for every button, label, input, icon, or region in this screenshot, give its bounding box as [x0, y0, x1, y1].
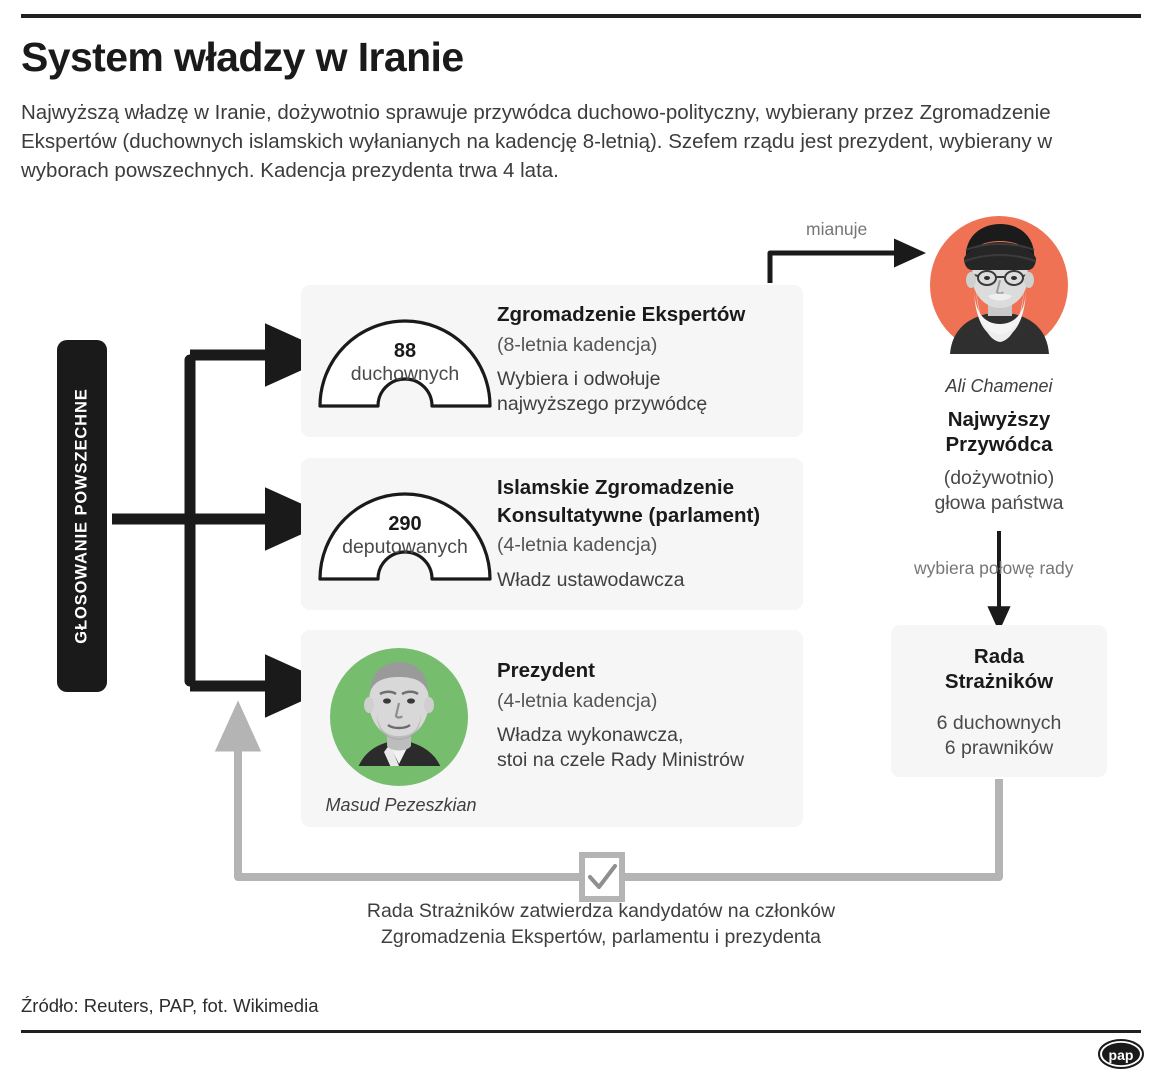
- leader-subtitle-line-2: głowa państwa: [880, 491, 1118, 516]
- approval-footnote-line-1: Rada Strażników zatwierdza kandydatów na…: [241, 899, 961, 925]
- parliament-member-unit: deputowanych: [307, 536, 503, 559]
- president-term: (4-letnia kadencja): [497, 689, 791, 714]
- assembly-member-count: 88: [317, 340, 493, 363]
- guardians-title-block: Rada Strażników: [891, 644, 1107, 695]
- guardians-body-block: 6 duchownych 6 prawników: [891, 711, 1107, 762]
- president-text-block: Prezydent (4-letnia kadencja) Władza wyk…: [497, 658, 791, 774]
- leader-subtitle-line-1: (dożywotnio): [880, 466, 1118, 491]
- vote-branch-arrows: [112, 355, 278, 686]
- assembly-duty-line-1: Wybiera i odwołuje: [497, 367, 791, 392]
- leader-portrait: [930, 216, 1068, 354]
- leader-subtitle-block: (dożywotnio) głowa państwa: [880, 466, 1118, 517]
- card-guardian-council[interactable]: Rada Strażników 6 duchownych 6 prawników: [891, 625, 1107, 777]
- guardians-body-line-1: 6 duchownych: [891, 711, 1107, 736]
- parliament-title-line-1: Islamskie Zgromadzenie: [497, 475, 791, 501]
- assembly-term: (8-letnia kadencja): [497, 333, 791, 358]
- leader-title-line-2: Przywódca: [880, 432, 1118, 457]
- checkbox-icon: [582, 855, 622, 899]
- edge-label-half-council: wybiera połowę rady: [914, 558, 1074, 579]
- leader-title-block: Najwyższy Przywódca: [880, 407, 1118, 457]
- president-duty-line-1: Władza wykonawcza,: [497, 723, 791, 748]
- infographic-root: System władzy w Iranie Najwyższą władzę …: [0, 0, 1162, 1080]
- leader-portrait-illustration: [930, 216, 1068, 354]
- universal-vote-label: GŁOSOWANIE POWSZECHNE: [73, 388, 92, 643]
- edge-label-appoints: mianuje: [806, 219, 867, 240]
- leader-title-line-1: Najwyższy: [880, 407, 1118, 432]
- guardians-title-line-2: Strażników: [891, 669, 1107, 694]
- standfirst-text: Najwyższą władzę w Iranie, dożywotnio sp…: [21, 98, 1091, 185]
- parliament-title-line-2: Konsultatywne (parlament): [497, 503, 791, 529]
- approval-footnote-line-2: Zgromadzenia Ekspertów, parlamentu i pre…: [241, 925, 961, 951]
- pap-logo-text: pap: [1109, 1047, 1134, 1063]
- approval-footnote: Rada Strażników zatwierdza kandydatów na…: [241, 899, 961, 950]
- hemicycle-icon: 88 duchownych: [317, 313, 493, 409]
- parliament-duty-line-1: Władz ustawodawcza: [497, 568, 791, 593]
- parliament-text-block: Islamskie Zgromadzenie Konsultatywne (pa…: [497, 475, 791, 593]
- universal-vote-pill: GŁOSOWANIE POWSZECHNE: [57, 340, 107, 692]
- top-rule: [21, 14, 1141, 18]
- parliament-member-count: 290: [317, 513, 493, 536]
- president-duty-line-2: stoi na czele Rady Ministrów: [497, 748, 791, 773]
- leader-name-caption: Ali Chamenei: [899, 376, 1099, 397]
- hemicycle-icon: 290 deputowanych: [317, 486, 493, 582]
- assembly-title: Zgromadzenie Ekspertów: [497, 302, 791, 328]
- pap-logo: pap: [1098, 1039, 1144, 1069]
- appoints-arrow: [770, 253, 900, 283]
- guardians-body-line-2: 6 prawników: [891, 736, 1107, 761]
- parliament-term: (4-letnia kadencja): [497, 533, 791, 558]
- assembly-member-unit: duchownych: [307, 363, 503, 386]
- president-name-caption: Masud Pezeszkian: [301, 795, 501, 816]
- card-assembly-of-experts[interactable]: 88 duchownych Zgromadzenie Ekspertów (8-…: [301, 285, 803, 437]
- bottom-rule: [21, 1030, 1141, 1033]
- assembly-text-block: Zgromadzenie Ekspertów (8-letnia kadencj…: [497, 302, 791, 418]
- assembly-duty-line-2: najwyższego przywódcę: [497, 392, 791, 417]
- guardians-title-line-1: Rada: [891, 644, 1107, 669]
- source-credit: Źródło: Reuters, PAP, fot. Wikimedia: [21, 995, 318, 1017]
- president-portrait: [330, 648, 468, 786]
- card-islamic-consultative-assembly[interactable]: 290 deputowanych Islamskie Zgromadzenie …: [301, 458, 803, 610]
- president-title: Prezydent: [497, 658, 791, 684]
- president-portrait-illustration: [330, 648, 468, 786]
- page-title: System władzy w Iranie: [21, 36, 1021, 79]
